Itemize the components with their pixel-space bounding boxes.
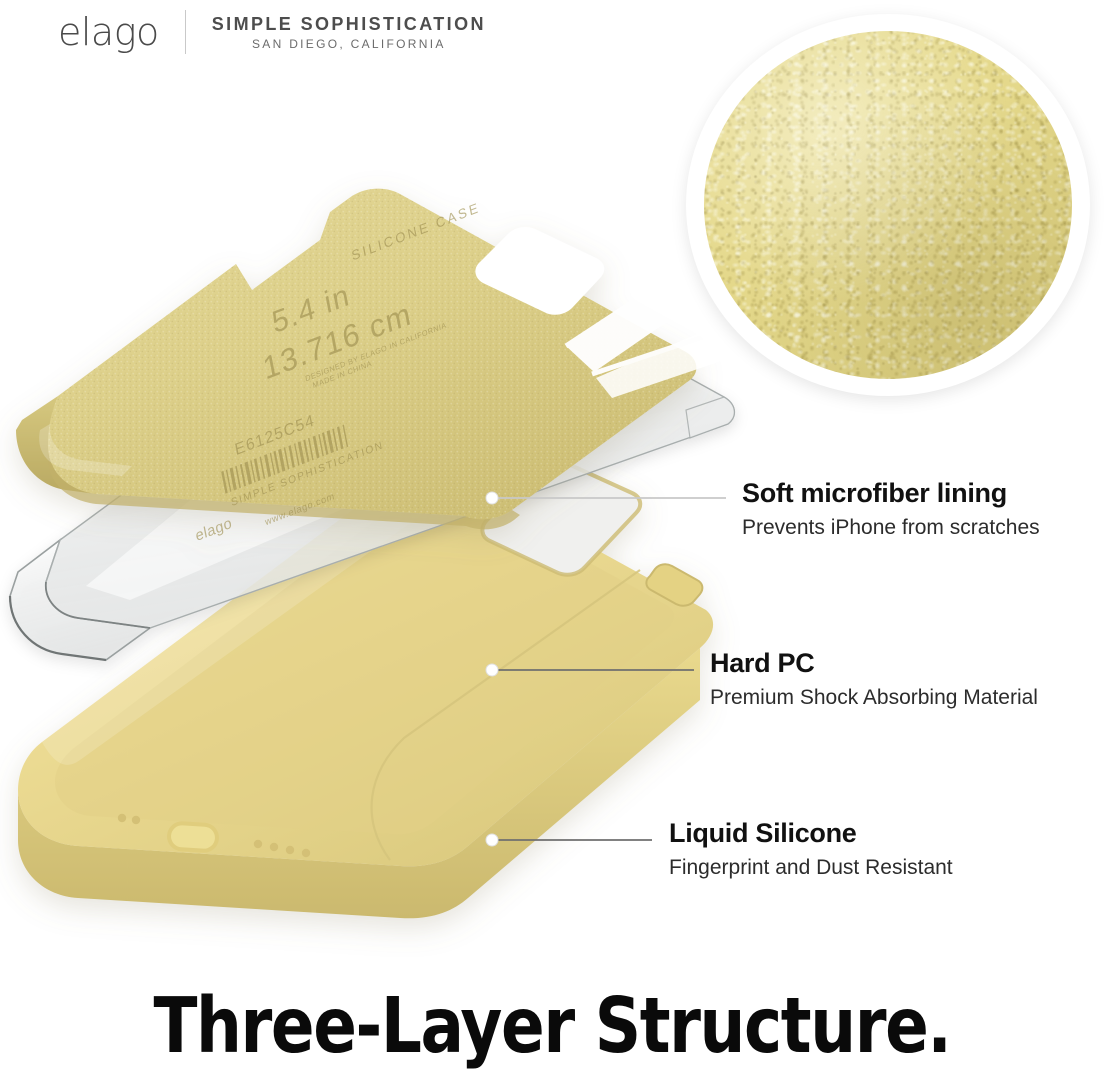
- callout-subtitle: Premium Shock Absorbing Material: [710, 685, 1038, 710]
- callout-subtitle: Prevents iPhone from scratches: [742, 515, 1040, 540]
- magnifier-shading: [704, 31, 1072, 379]
- callout-subtitle: Fingerprint and Dust Resistant: [669, 855, 953, 880]
- callout-title: Hard PC: [710, 648, 1038, 678]
- infographic-canvas: elago SIMPLE SOPHISTICATION SAN DIEGO, C…: [0, 0, 1104, 1075]
- callout-title: Liquid Silicone: [669, 818, 953, 848]
- callout-liquid-silicone: Liquid Silicone Fingerprint and Dust Res…: [669, 818, 953, 880]
- callout-soft-microfiber-lining: Soft microfiber lining Prevents iPhone f…: [742, 478, 1040, 540]
- headline: Three-Layer Structure.: [39, 982, 1066, 1071]
- callout-hard-pc: Hard PC Premium Shock Absorbing Material: [710, 648, 1038, 710]
- magnifier-texture: [704, 31, 1072, 379]
- microfiber-texture-magnifier: [686, 14, 1090, 396]
- callout-title: Soft microfiber lining: [742, 478, 1040, 508]
